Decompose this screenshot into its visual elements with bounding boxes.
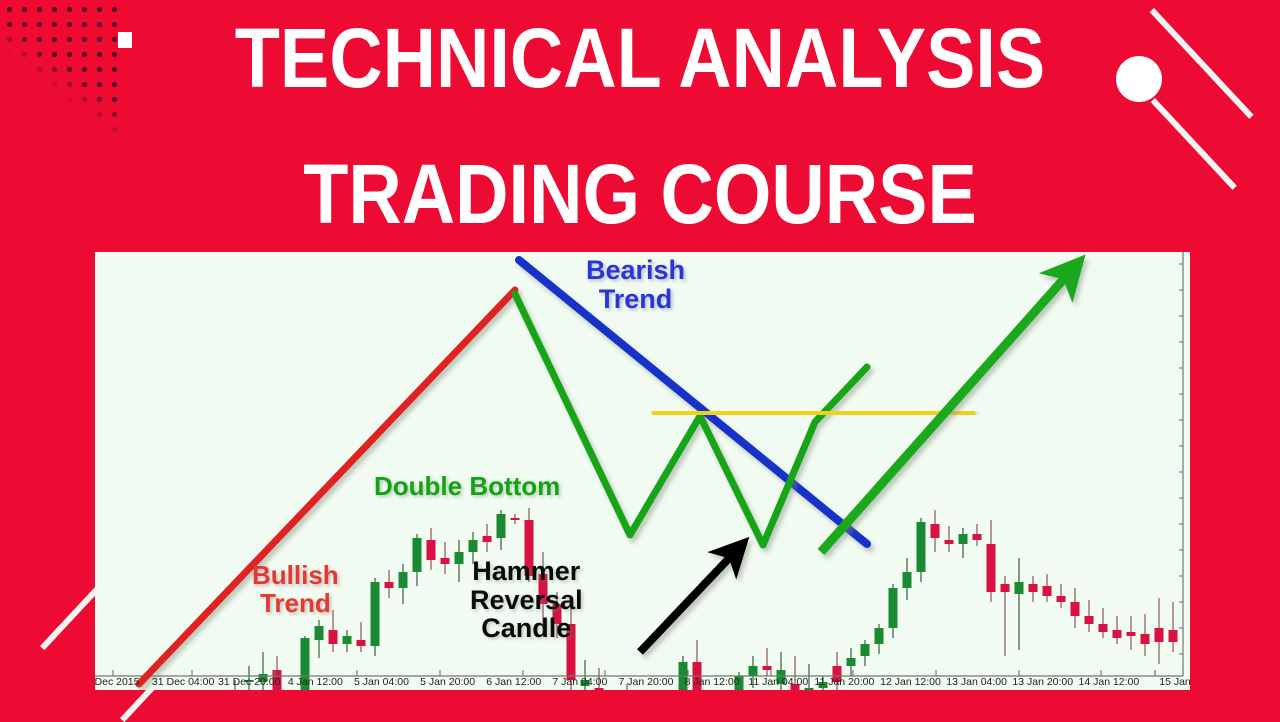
candle-body: [329, 630, 338, 644]
candle-body: [385, 582, 394, 588]
x-axis-tick-labels: Dec 201531 Dec 04:0031 Dec 20:004 Jan 12…: [95, 676, 1190, 694]
candle-body: [441, 558, 450, 564]
candle-body: [847, 658, 856, 666]
candle-body: [1127, 632, 1136, 636]
chart-canvas: [95, 252, 1190, 690]
candle-body: [1085, 616, 1094, 624]
x-axis-tick-label: 11 Jan 20:00: [814, 676, 874, 688]
x-axis-tick-label: 31 Dec 20:00: [218, 676, 280, 688]
candle-body: [483, 536, 492, 542]
candle-body: [511, 518, 520, 520]
x-axis-tick-label: 7 Jan 04:00: [552, 676, 607, 688]
candle-body: [987, 544, 996, 592]
candle-body: [1029, 584, 1038, 592]
candle-body: [1169, 630, 1178, 642]
candle-body: [357, 640, 366, 646]
x-axis-tick-label: 14 Jan 12:00: [1079, 676, 1140, 688]
candle-body: [399, 572, 408, 588]
candle-body: [1113, 630, 1122, 638]
candle-body: [1001, 584, 1010, 592]
x-axis-tick-label: 13 Jan 20:00: [1012, 676, 1073, 688]
bearish-trendline: [519, 260, 867, 544]
candle-body: [917, 522, 926, 572]
candle-body: [469, 540, 478, 552]
double-bottom-path: [515, 294, 867, 545]
candle-body: [1071, 602, 1080, 616]
candle-body: [1057, 596, 1066, 602]
x-axis-tick-label: 5 Jan 04:00: [354, 676, 409, 688]
x-axis-tick-label: Dec 2015: [95, 676, 140, 688]
x-axis-tick-label: 5 Jan 20:00: [420, 676, 475, 688]
candle-body: [1015, 582, 1024, 594]
chart-overlays: [139, 260, 1070, 684]
annotation-hammer-reversal-candle: Hammer Reversal Candle: [470, 557, 583, 643]
x-axis-tick-label: 12 Jan 12:00: [880, 676, 941, 688]
candle-body: [959, 534, 968, 544]
chart-plot-area: [95, 252, 1190, 690]
candle-body: [903, 572, 912, 588]
candle-body: [497, 514, 506, 538]
candlestick-chart: Dec 201531 Dec 04:0031 Dec 20:004 Jan 12…: [95, 252, 1190, 690]
x-axis-tick-label: 8 Jan 12:00: [685, 676, 740, 688]
hammer-pointer-arrow: [640, 552, 735, 652]
candle-body: [343, 636, 352, 644]
candle-body: [455, 552, 464, 564]
x-axis-tick-label: 4 Jan 12:00: [288, 676, 343, 688]
candle-body: [371, 582, 380, 646]
candle-body: [931, 524, 940, 538]
x-axis-tick-label: 15 Jan: [1159, 676, 1191, 688]
candle-body: [1155, 628, 1164, 642]
x-axis-tick-label: 31 Dec 04:00: [152, 676, 214, 688]
x-axis-tick-label: 13 Jan 04:00: [946, 676, 1007, 688]
candle-body: [945, 540, 954, 544]
poster-title-line-1: TECHNICAL ANALYSIS: [77, 12, 1203, 104]
candle-body: [749, 666, 758, 676]
candle-body: [973, 534, 982, 540]
poster-title-line-2: TRADING COURSE: [77, 148, 1203, 240]
annotation-bullish-trend: Bullish Trend: [252, 562, 339, 617]
annotation-bearish-trend: Bearish Trend: [586, 256, 685, 313]
resistance-line: [657, 412, 970, 414]
x-axis-tick-label: 6 Jan 12:00: [486, 676, 541, 688]
annotation-double-bottom: Double Bottom: [374, 473, 560, 501]
candle-body: [1099, 624, 1108, 632]
candle-body: [315, 626, 324, 640]
candle-body: [875, 628, 884, 644]
candle-body: [889, 588, 898, 628]
x-axis-tick-label: 7 Jan 20:00: [619, 676, 674, 688]
x-axis-tick-label: 11 Jan 04:00: [748, 676, 808, 688]
candle-body: [861, 644, 870, 656]
candle-body: [763, 666, 772, 670]
candle-body: [1043, 586, 1052, 596]
candle-body: [413, 538, 422, 572]
candle-body: [1141, 634, 1150, 644]
candle-body: [427, 540, 436, 560]
